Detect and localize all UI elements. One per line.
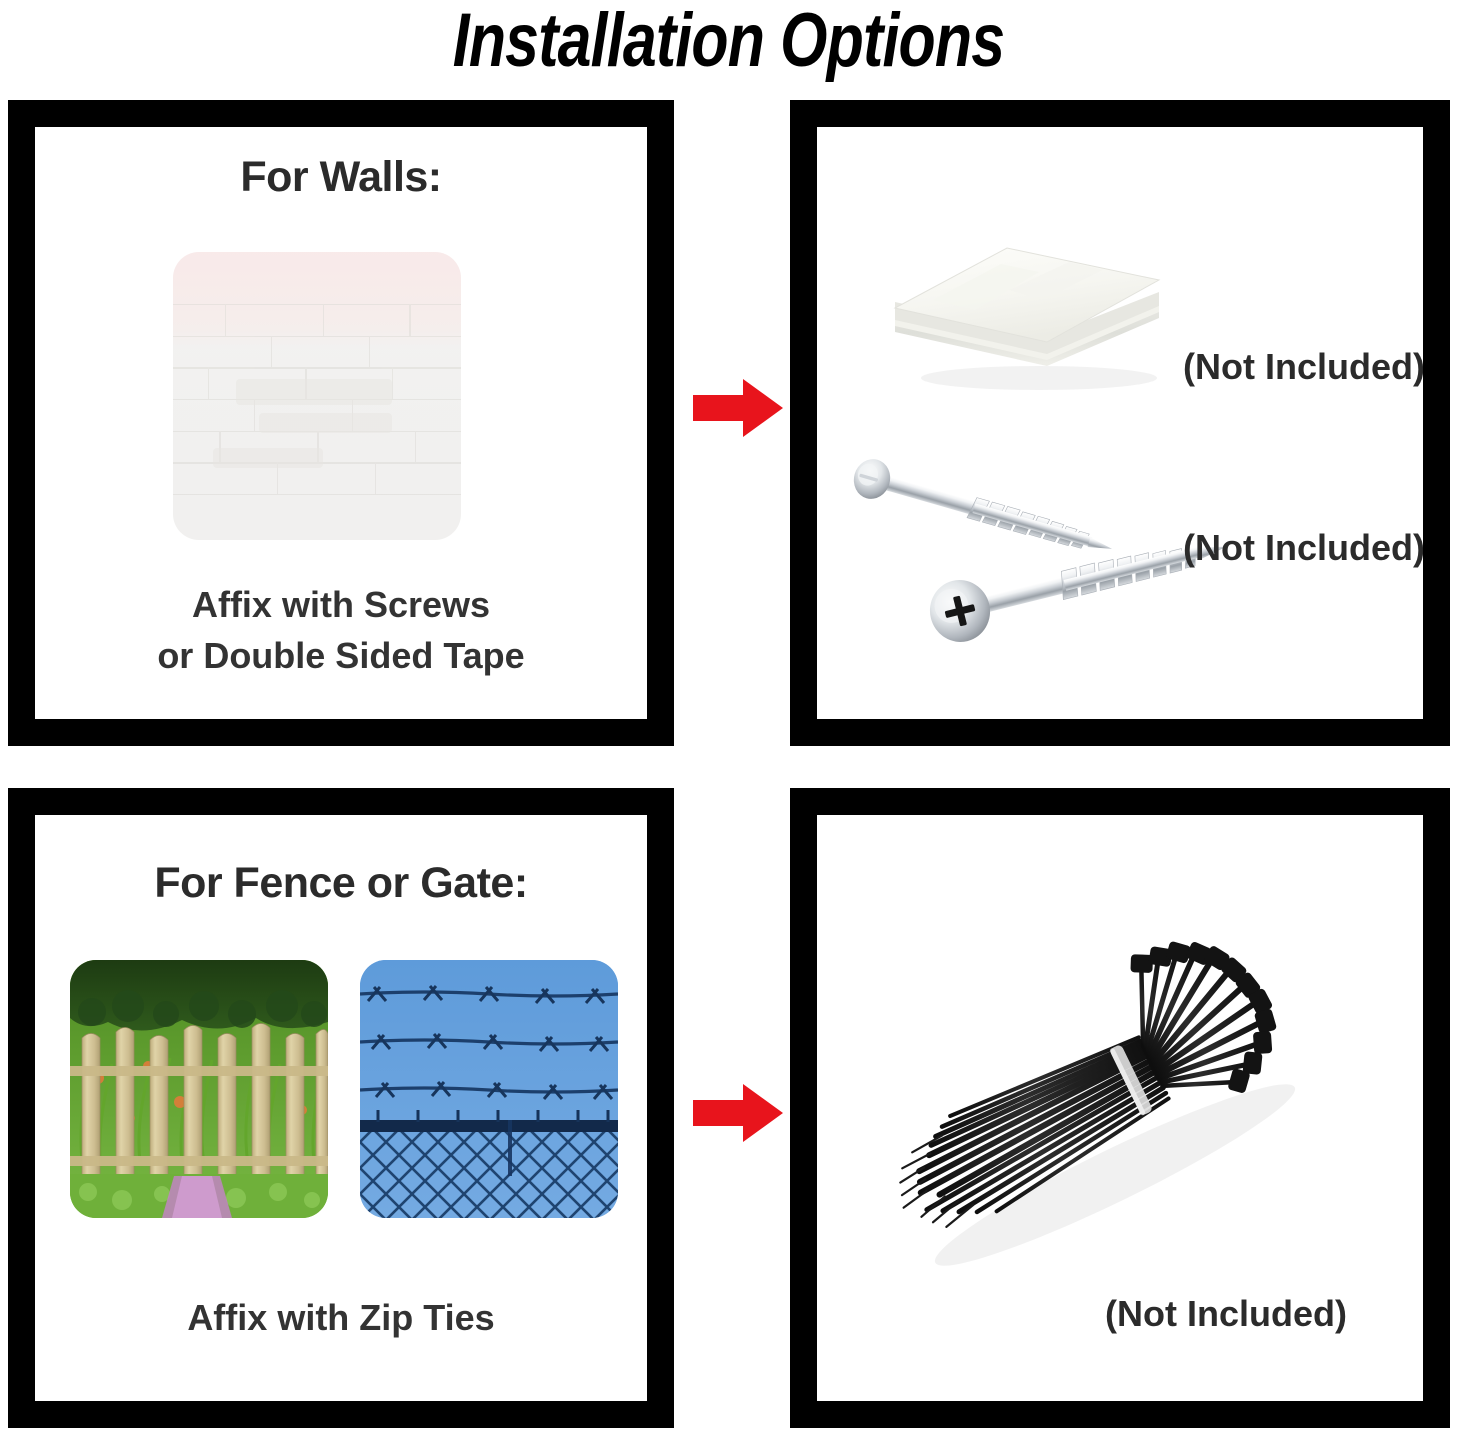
panel-wall-hardware-content: (Not Included)	[817, 127, 1423, 719]
panel-wall-hardware: (Not Included)	[790, 100, 1450, 746]
panel-fence-hardware-content: (Not Included)	[817, 815, 1423, 1401]
ziptie-not-included-label: (Not Included)	[1105, 1293, 1347, 1335]
walls-caption-line1: Affix with Screws	[35, 579, 647, 630]
panel-for-walls-content: For Walls:	[35, 127, 647, 719]
fence-caption: Affix with Zip Ties	[35, 1292, 647, 1343]
double-sided-tape-stack	[889, 238, 1165, 404]
fence-caption-line1: Affix with Zip Ties	[35, 1292, 647, 1343]
walls-caption: Affix with Screws or Double Sided Tape	[35, 579, 647, 681]
walls-caption-line2: or Double Sided Tape	[35, 630, 647, 681]
red-right-arrow-bottom	[693, 1082, 783, 1144]
wood-screw-upper	[849, 455, 1118, 567]
red-right-arrow-top	[693, 377, 783, 439]
panel-for-walls: For Walls:	[8, 100, 674, 746]
for-fence-heading: For Fence or Gate:	[35, 859, 647, 908]
wooden-picket-fence-photo	[70, 960, 328, 1218]
screws-not-included-label: (Not Included)	[1183, 527, 1423, 569]
panel-for-fence-content: For Fence or Gate:	[35, 815, 647, 1401]
white-brick-wall-photo	[173, 252, 461, 540]
page-title: Installation Options	[146, 0, 1312, 84]
panel-fence-hardware: (Not Included)	[790, 788, 1450, 1428]
panel-for-fence-or-gate: For Fence or Gate:	[8, 788, 674, 1428]
chain-link-barbed-wire-photo	[360, 960, 618, 1218]
black-zip-tie-bundle	[865, 925, 1335, 1285]
for-walls-heading: For Walls:	[35, 153, 647, 202]
tape-not-included-label: (Not Included)	[1183, 346, 1423, 388]
